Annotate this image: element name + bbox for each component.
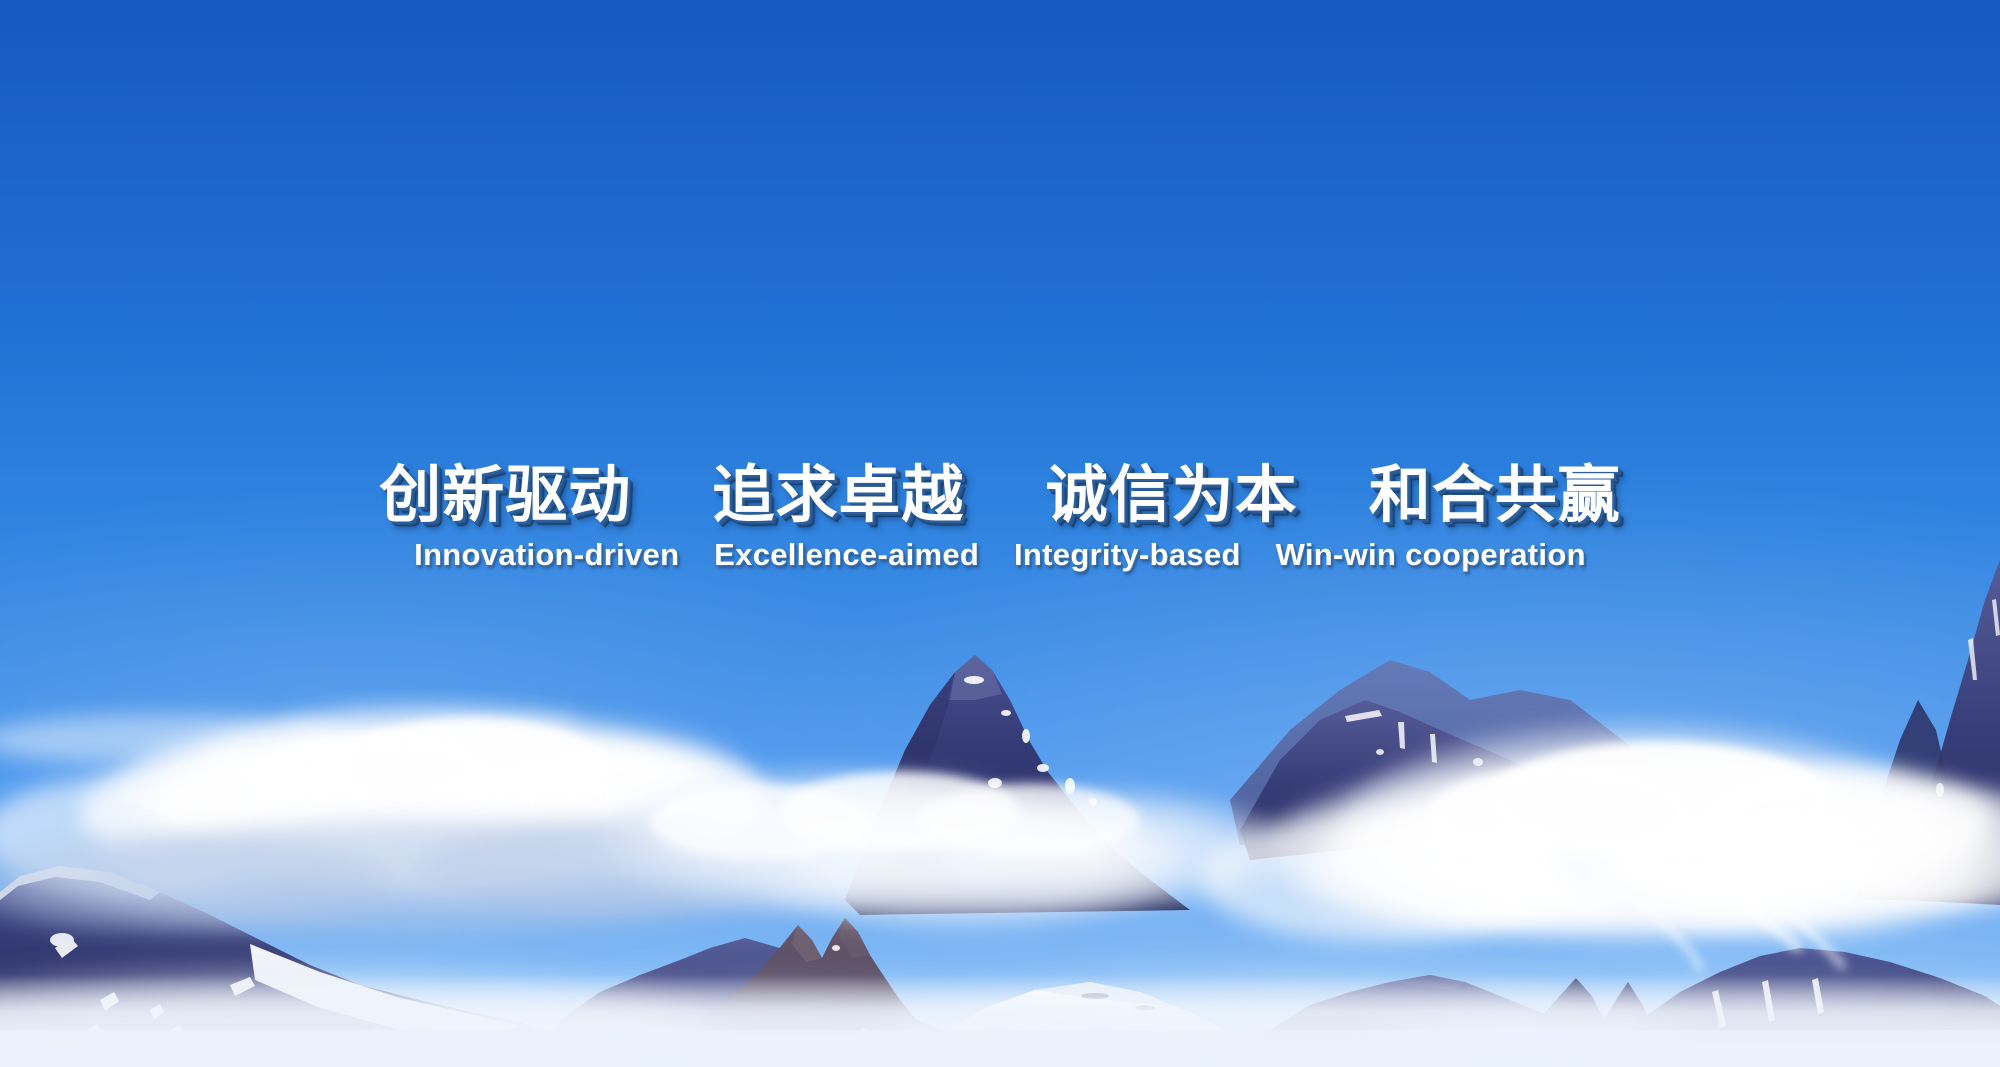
slogan-block: 创新驱动 追求卓越 诚信为本 和合共赢 Innovation-driven Ex… bbox=[0, 462, 2000, 573]
slogan-en-phrase-2: Excellence-aimed bbox=[714, 537, 979, 572]
slogan-en-phrase-4: Win-win cooperation bbox=[1276, 537, 1586, 572]
slogan-cn-phrase-3: 诚信为本 bbox=[1046, 458, 1298, 531]
slogan-en-phrase-3: Integrity-based bbox=[1014, 537, 1241, 572]
slogan-english: Innovation-driven Excellence-aimed Integ… bbox=[0, 537, 2000, 573]
bottom-mist bbox=[0, 975, 2000, 1067]
slogan-cn-phrase-4: 和合共赢 bbox=[1369, 458, 1621, 531]
slogan-cn-phrase-2: 追求卓越 bbox=[712, 458, 964, 531]
slogan-cn-phrase-1: 创新驱动 bbox=[379, 458, 631, 531]
slogan-en-phrase-1: Innovation-driven bbox=[414, 537, 679, 572]
hero-banner: 创新驱动 追求卓越 诚信为本 和合共赢 Innovation-driven Ex… bbox=[0, 0, 2000, 1067]
slogan-chinese: 创新驱动 追求卓越 诚信为本 和合共赢 bbox=[0, 462, 2000, 528]
